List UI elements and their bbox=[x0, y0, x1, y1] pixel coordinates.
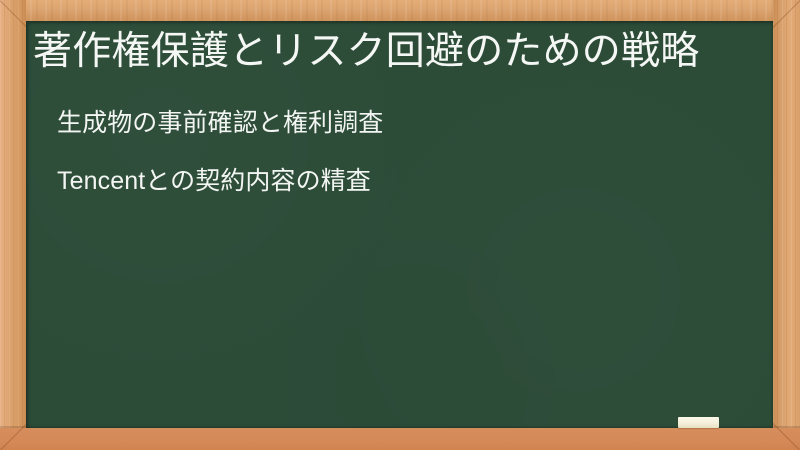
slide-title: 著作権保護とリスク回避のための戦略 bbox=[33, 27, 763, 77]
chalk-stick-icon bbox=[678, 417, 719, 428]
list-item: Tencentとの契約内容の精査 bbox=[57, 166, 747, 197]
frame-rail-left bbox=[0, 0, 26, 450]
chalkboard-surface: 著作権保護とリスク回避のための戦略 生成物の事前確認と権利調査 Tencentと… bbox=[26, 21, 773, 428]
frame-rail-right bbox=[773, 0, 800, 450]
bullet-list: 生成物の事前確認と権利調査 Tencentとの契約内容の精査 bbox=[57, 108, 747, 223]
chalkboard-slide: 著作権保護とリスク回避のための戦略 生成物の事前確認と権利調査 Tencentと… bbox=[0, 0, 800, 450]
list-item: 生成物の事前確認と権利調査 bbox=[57, 108, 747, 139]
frame-rail-top bbox=[0, 0, 800, 21]
chalkboard-texture bbox=[26, 21, 773, 428]
frame-chalk-ledge bbox=[0, 428, 800, 450]
